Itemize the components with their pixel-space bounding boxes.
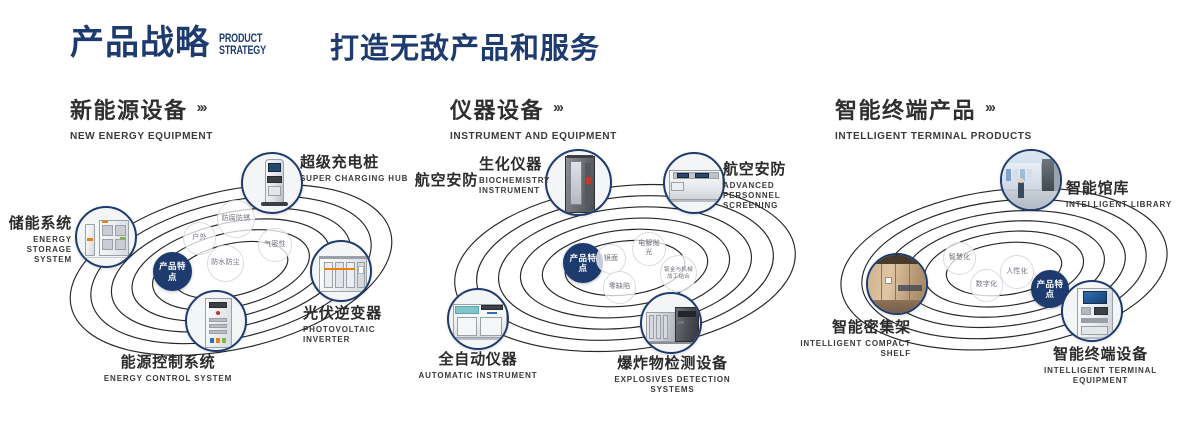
- node-label-en: INTELLIGENT LIBRARY: [1066, 200, 1196, 210]
- section-title-cn: 仪器设备: [450, 93, 544, 125]
- control-cabinet-icon: [187, 292, 245, 350]
- feature-bubble-digital: 数字化: [970, 269, 1003, 302]
- node-label-cn: 全自动仪器: [418, 352, 538, 369]
- feature-bubble-label: 智慧化: [949, 254, 971, 263]
- node-label-cn: 生化仪器: [479, 157, 575, 174]
- node-label-en: BIOCHEMISTRY INSTRUMENT: [479, 176, 575, 196]
- chevron-right-icon: ›››: [553, 99, 562, 116]
- node-intelligent-terminal-equipment[interactable]: [1061, 280, 1123, 342]
- personnel-screening-machine-icon: [665, 154, 723, 212]
- pv-inverter-cabinet-icon: [312, 242, 370, 300]
- label-aviation-security-left: 航空安防: [390, 173, 478, 192]
- feature-bubble-electropolishing: 电解抛光: [632, 232, 666, 266]
- node-label-cn: 储能系统: [0, 216, 72, 233]
- node-explosives-detection[interactable]: [640, 292, 702, 354]
- cluster-intelligent-terminal: 智慧化 数字化 人性化 产品特点: [828, 165, 1198, 380]
- feature-bubble-label: 零缺陷: [609, 283, 631, 292]
- feature-bubble-label: 数字化: [976, 281, 998, 290]
- node-label-cn: 航空安防: [390, 173, 478, 190]
- node-label-cn: 超级充电桩: [300, 155, 410, 172]
- feature-bubble-sheetmetal-machining: 钣金与机械加工结合: [660, 255, 697, 292]
- label-explosives-detection: 爆炸物检测设备 EXPLOSIVES DETECTION SYSTEMS: [595, 356, 750, 395]
- feature-bubble-label: 防腐防锈: [222, 215, 251, 224]
- label-intelligent-terminal-equipment: 智能终端设备 INTELLIGENT TERMINAL EQUIPMENT: [1018, 347, 1183, 386]
- self-service-kiosk-icon: [1063, 282, 1121, 340]
- cluster-new-energy: 产品特点 户外 防腐防锈 防水防尘 气密性: [55, 160, 415, 375]
- node-label-en: EXPLOSIVES DETECTION SYSTEMS: [595, 375, 750, 395]
- node-label-en: INTELLIGENT TERMINAL EQUIPMENT: [1018, 366, 1183, 386]
- node-intelligent-compact-shelf[interactable]: [866, 253, 928, 315]
- poster-canvas: 产品战略 PRODUCT STRATEGY 打造无敌产品和服务 新能源设备›››…: [0, 0, 1200, 422]
- section-heading-instrument: 仪器设备››› INSTRUMENT AND EQUIPMENT: [450, 93, 624, 142]
- automatic-instrument-icon: [449, 290, 507, 348]
- brand-title-en: PRODUCT STRATEGY: [219, 34, 266, 60]
- brand-title-en-line1: PRODUCT: [219, 34, 266, 46]
- node-label-cn: 智能密集架: [786, 320, 911, 337]
- node-label-cn: 智能终端设备: [1018, 347, 1183, 364]
- label-intelligent-compact-shelf: 智能密集架 INTELLIGENT COMPACT SHELF: [786, 320, 911, 359]
- feature-bubble-label: 气密性: [264, 241, 286, 250]
- feature-bubble-label: 钣金与机械加工结合: [663, 267, 694, 281]
- node-personnel-screening[interactable]: [663, 152, 725, 214]
- core-bubble-label: 产品特点: [156, 261, 189, 282]
- feature-bubble-label: 人性化: [1006, 268, 1028, 277]
- label-personnel-screening: 航空安防 ADVANCED PERSONNEL SCREENING: [723, 162, 831, 212]
- core-bubble-label: 产品特点: [566, 253, 600, 274]
- node-label-en: ADVANCED PERSONNEL SCREENING: [723, 181, 831, 212]
- node-photovoltaic-inverter[interactable]: [310, 240, 372, 302]
- energy-storage-cabinet-icon: [77, 208, 135, 266]
- label-automatic-instrument: 全自动仪器 AUTOMATIC INSTRUMENT: [418, 352, 538, 381]
- node-energy-storage-system[interactable]: [75, 206, 137, 268]
- node-label-en: INTELLIGENT COMPACT SHELF: [786, 339, 911, 359]
- section-title-en: INSTRUMENT AND EQUIPMENT: [450, 130, 617, 142]
- section-heading-new-energy: 新能源设备››› NEW ENERGY EQUIPMENT: [70, 93, 219, 142]
- explosives-detector-icon: [642, 294, 700, 352]
- node-label-cn: 能源控制系统: [83, 355, 253, 372]
- feature-bubble-humanized: 人性化: [1000, 255, 1034, 289]
- node-label-cn: 智能馆库: [1066, 181, 1196, 198]
- section-title-en: NEW ENERGY EQUIPMENT: [70, 130, 213, 142]
- core-bubble-product-features: 产品特点: [153, 252, 192, 291]
- label-photovoltaic-inverter: 光伏逆变器 PHOTOVOLTAIC INVERTER: [303, 306, 423, 345]
- page-headline: 打造无敌产品和服务: [330, 32, 600, 67]
- label-biochemistry-instrument: 生化仪器 BIOCHEMISTRY INSTRUMENT: [479, 157, 575, 196]
- node-label-en: ENERGY CONTROL SYSTEM: [83, 374, 253, 384]
- compact-shelf-icon: [868, 255, 926, 313]
- feature-bubble-mirror-finish: 镜面: [596, 244, 626, 274]
- chevron-right-icon: ›››: [985, 99, 994, 116]
- node-label-en: ENERGY STORAGE SYSTEM: [0, 235, 72, 266]
- node-label-cn: 爆炸物检测设备: [595, 356, 750, 373]
- node-automatic-instrument[interactable]: [447, 288, 509, 350]
- label-intelligent-library: 智能馆库 INTELLIGENT LIBRARY: [1066, 181, 1196, 210]
- label-energy-control-system: 能源控制系统 ENERGY CONTROL SYSTEM: [83, 355, 253, 384]
- node-super-charging-hub[interactable]: [241, 152, 303, 214]
- node-label-cn: 航空安防: [723, 162, 831, 179]
- node-intelligent-library[interactable]: [1000, 149, 1062, 211]
- library-room-icon: [1002, 151, 1060, 209]
- feature-bubble-waterproof-dustproof: 防水防尘: [207, 245, 244, 282]
- feature-bubble-intelligent: 智慧化: [943, 242, 976, 275]
- feature-bubble-label: 防水防尘: [211, 259, 240, 268]
- charging-pile-icon: [243, 154, 301, 212]
- feature-bubble-zero-defect: 零缺陷: [603, 271, 636, 304]
- label-energy-storage-system: 储能系统 ENERGY STORAGE SYSTEM: [0, 216, 72, 266]
- chevron-right-icon: ›››: [197, 99, 206, 116]
- brand-lockup: 产品战略 PRODUCT STRATEGY: [70, 26, 279, 60]
- feature-bubble-label: 电解抛光: [635, 240, 663, 257]
- feature-bubble-label: 镜面: [604, 255, 618, 264]
- section-heading-intelligent-terminal: 智能终端产品››› INTELLIGENT TERMINAL PRODUCTS: [835, 93, 1040, 142]
- feature-bubble-label: 户外: [192, 234, 206, 243]
- node-label-cn: 光伏逆变器: [303, 306, 423, 323]
- brand-title-cn: 产品战略: [70, 26, 210, 60]
- section-title-en: INTELLIGENT TERMINAL PRODUCTS: [835, 130, 1032, 142]
- section-title-cn: 新能源设备: [70, 93, 188, 125]
- section-title-cn: 智能终端产品: [835, 93, 976, 125]
- core-bubble-label: 产品特点: [1034, 279, 1066, 300]
- feature-bubble-airtightness: 气密性: [258, 228, 292, 262]
- brand-title-en-line2: STRATEGY: [219, 46, 266, 58]
- node-label-en: PHOTOVOLTAIC INVERTER: [303, 325, 423, 345]
- node-label-en: AUTOMATIC INSTRUMENT: [418, 371, 538, 381]
- cluster-instrument: 产品特点 镜面 电解抛光 钣金与机械加工结合 零缺陷 航空安防: [435, 160, 815, 375]
- node-energy-control-system[interactable]: [185, 290, 247, 352]
